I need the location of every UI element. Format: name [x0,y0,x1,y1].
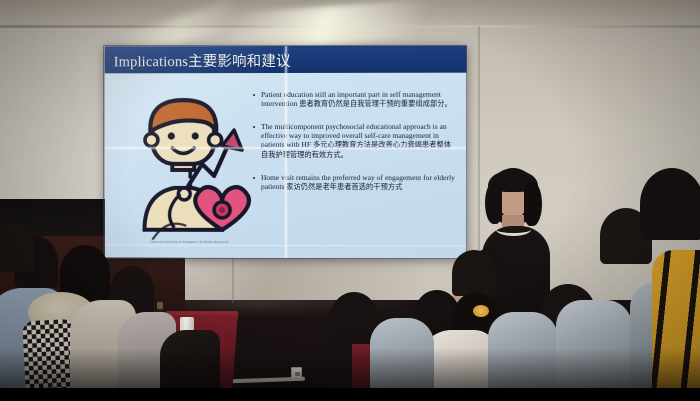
audience-head [452,250,496,296]
yellow-hair-clip [473,305,489,317]
bottle-cap [157,302,163,309]
lecture-hall-photo: Implications主要影响和建议 [0,0,700,401]
audience-head [640,168,700,240]
letterbox-bar [0,388,700,401]
pearl-necklace [496,223,531,236]
audience-head [0,222,34,272]
presenter-hair-right [524,182,542,226]
presenter-hair-left [485,182,502,224]
screen-bezel [103,45,467,259]
foreground-shadow [0,348,700,388]
